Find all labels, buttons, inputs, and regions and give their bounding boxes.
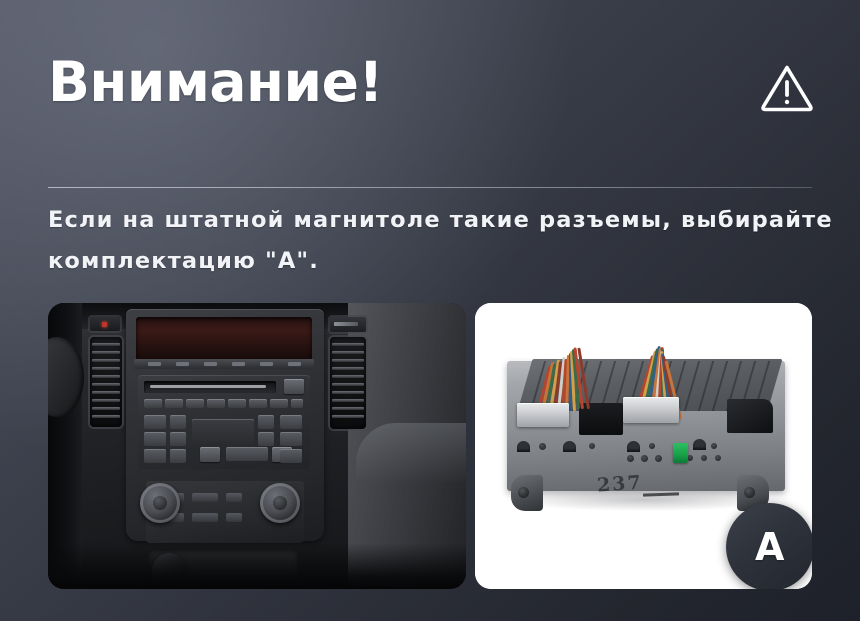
body-text-line-2: комплектацию "А". <box>48 241 818 282</box>
mounting-bracket-left <box>511 475 543 511</box>
head-unit-connectors-photo: 237 A <box>475 303 812 589</box>
hazard-light-button <box>90 317 120 331</box>
variant-badge-letter: A <box>755 528 785 566</box>
body-text-line-1: Если на штатной магнитоле такие разъемы,… <box>48 200 818 241</box>
connector-left <box>517 403 569 427</box>
climate-knob-right <box>260 483 300 523</box>
variant-badge: A <box>726 503 812 589</box>
divider <box>48 187 812 188</box>
warning-slide: Внимание! Если на штатной магнитоле таки… <box>0 0 860 621</box>
page-title: Внимание! <box>48 50 383 114</box>
dashboard-illustration <box>48 303 466 589</box>
cd-slot <box>144 381 276 393</box>
handwritten-marker: 237 <box>596 471 643 496</box>
air-vent-left <box>90 337 122 427</box>
green-connector-clip <box>673 443 688 463</box>
radio-head-unit-faceplate <box>138 375 310 469</box>
car-dashboard-photo <box>48 303 466 589</box>
photo-row: 237 A <box>48 303 812 589</box>
climate-knob-left <box>140 483 180 523</box>
air-vent-right <box>330 337 366 429</box>
radio-display <box>136 317 312 363</box>
connector-right <box>623 397 679 423</box>
body-text: Если на штатной магнитоле такие разъемы,… <box>48 200 818 282</box>
warning-triangle-icon <box>760 62 814 112</box>
